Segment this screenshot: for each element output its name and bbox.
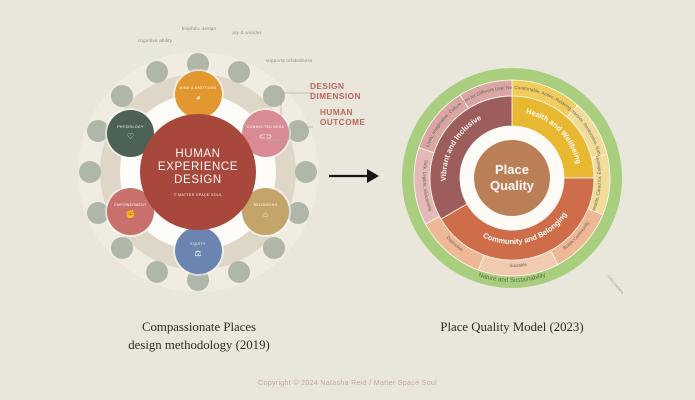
legend-human-outcome-label: HUMAN OUTCOME [320,108,365,127]
model-attribution: ©2023 Natasha Reid [606,274,623,294]
ring-dot [111,85,133,107]
brain-icon: ◕ [196,94,201,102]
ring-dot [111,237,133,259]
ring-dot [146,261,168,283]
node-mind-emotions[interactable]: MIND & EMOTIONS◕ [175,71,222,118]
node-label: EQUITY [190,242,205,247]
ring-dot [146,61,168,83]
node-label: PHYSIOLOGY [117,125,143,130]
node-label: EMPOWERMENT [114,203,146,208]
legend-human-outcome: HUMAN OUTCOME [310,108,390,127]
place-quality-model-diagram: Place Quality Health and WellbeingCommun… [401,62,623,294]
node-label: BELONGING [254,203,278,208]
scales-icon: ⚖ [194,250,201,258]
caption-left-line2: design methodology (2019) [86,336,312,354]
center-label-line2: Quality [490,178,535,193]
legend-design-dimension-label: DESIGN DIMENSION [310,82,361,101]
outer-label: joy & wonder [218,30,276,36]
caption-left: Compassionate Places design methodology … [86,318,312,354]
home-icon: ⌂ [263,211,268,219]
outer-label: supports relatedness [260,58,318,64]
node-label: MIND & EMOTIONS [179,86,216,91]
diagram-canvas: cognitive abilitybiophilic designjoy & w… [0,0,695,400]
transition-arrow-icon [327,165,379,187]
ring-dot [228,261,250,283]
caption-right-line1: Place Quality Model (2023) [398,318,626,336]
human-experience-design-hub[interactable]: HUMAN EXPERIENCE DESIGN © MATTER SPACE S… [140,114,256,230]
hub-title-line2: EXPERIENCE [158,161,238,174]
heart-icon: ♡ [127,133,134,141]
hub-title-line3: DESIGN [174,174,222,187]
legend-design-dimension: DESIGN DIMENSION [310,82,390,101]
caption-right: Place Quality Model (2023) [398,318,626,336]
node-equity[interactable]: EQUITY⚖ [175,227,222,274]
caption-left-line1: Compassionate Places [86,318,312,336]
hub-subtitle: © MATTER SPACE SOUL [174,193,223,197]
hand-icon: ✊ [125,211,135,219]
ring-dot [295,161,317,183]
legend: DESIGN DIMENSION HUMAN OUTCOME [310,82,390,127]
ring-dot [87,120,109,142]
ring-dot [79,161,101,183]
copyright-notice: Copyright © 2024 Natasha Reid / Matter S… [0,378,695,387]
ring-dot [287,202,309,224]
hub-title-line1: HUMAN [175,148,220,161]
center-label-line1: Place [495,162,529,177]
outer-label: cognitive ability [126,38,184,44]
